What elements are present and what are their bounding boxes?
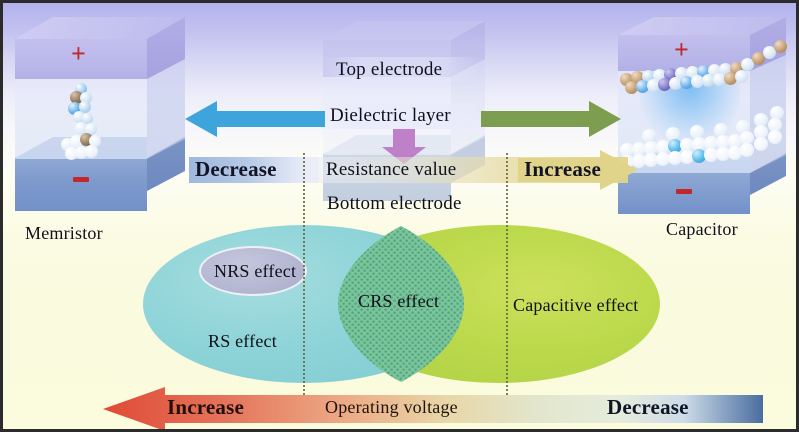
separator-line-left: [303, 153, 305, 411]
operating-voltage-label: Operating voltage: [325, 397, 458, 418]
capacitor-plus-sign: +: [674, 37, 689, 63]
separator-line-right: [506, 153, 508, 411]
voltage-increase-label: Increase: [167, 395, 244, 420]
memristor-filament: [59, 83, 105, 161]
nrs-effect-label: NRS effect: [214, 261, 296, 282]
bottom-electrode-label: Bottom electrode: [327, 193, 462, 215]
resistance-increase-label: Increase: [524, 157, 601, 182]
resistance-decrease-label: Decrease: [195, 157, 277, 182]
top-electrode-label: Top electrode: [336, 59, 442, 81]
capacitor-label: Capacitor: [666, 219, 738, 240]
rs-effect-label: RS effect: [208, 331, 277, 352]
voltage-decrease-label: Decrease: [607, 395, 689, 420]
resistance-value-label: Resistance value: [326, 159, 456, 181]
memristor-minus-sign: [73, 177, 89, 182]
blue-left-arrow: [185, 99, 325, 139]
capacitor-upper-charge-layer: [618, 65, 788, 91]
dielectric-layer-label: Dielectric layer: [330, 105, 451, 127]
memristor-bottom-electrode: [15, 157, 147, 211]
figure-canvas: + Memristor: [0, 0, 799, 432]
memristor-device: +: [15, 17, 195, 217]
memristor-plus-sign: +: [71, 41, 86, 67]
crs-effect-label: CRS effect: [358, 291, 439, 312]
capacitive-effect-label: Capacitive effect: [513, 295, 639, 316]
capacitor-minus-sign: [676, 189, 692, 194]
capacitor-device: +: [618, 17, 798, 221]
green-right-arrow: [481, 99, 621, 139]
capacitor-lower-charge-layer: [618, 125, 788, 169]
memristor-label: Memristor: [25, 223, 103, 244]
